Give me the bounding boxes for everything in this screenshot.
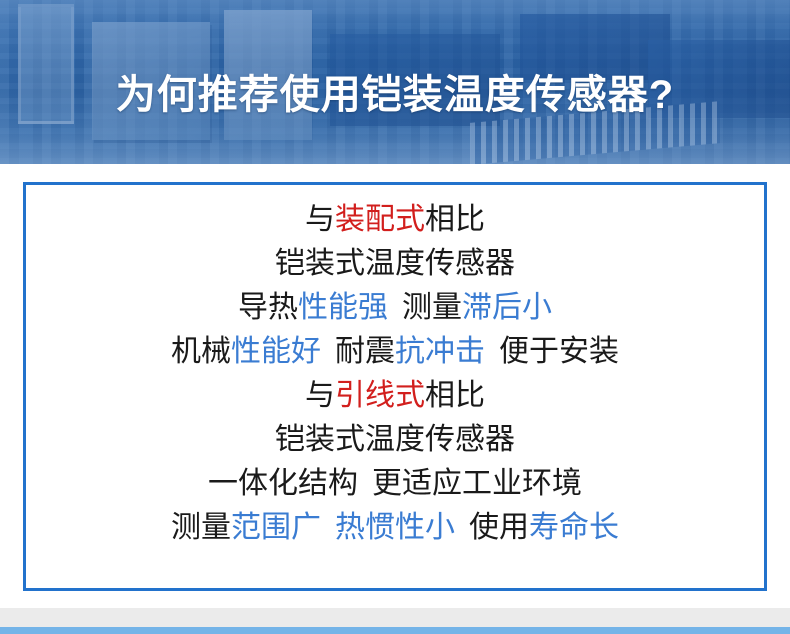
feature-text-segment: 测量 xyxy=(402,291,462,324)
feature-line: 一体化结构更适应工业环境 xyxy=(23,462,767,506)
feature-text-segment: 机械 xyxy=(171,335,231,368)
feature-line: 机械性能好耐震抗冲击便于安装 xyxy=(23,330,767,374)
feature-line: 与引线式相比 xyxy=(23,374,767,418)
feature-text-segment: 性能强 xyxy=(298,291,388,324)
feature-text-segment: 导热 xyxy=(238,291,298,324)
feature-text-segment: 相比 xyxy=(425,379,485,412)
page-title: 为何推荐使用铠装温度传感器? xyxy=(0,70,790,120)
feature-text-segment: 一体化结构 xyxy=(208,467,358,500)
feature-line: 铠装式温度传感器 xyxy=(23,242,767,286)
feature-text-segment: 与 xyxy=(305,379,335,412)
feature-text-segment: 滞后小 xyxy=(462,291,552,324)
feature-line: 测量范围广热惯性小使用寿命长 xyxy=(23,506,767,550)
feature-text-block: 与装配式相比铠装式温度传感器导热性能强测量滞后小机械性能好耐震抗冲击便于安装与引… xyxy=(23,198,767,550)
footer-blue-band xyxy=(0,627,790,634)
feature-text-segment: 范围广 xyxy=(231,511,321,544)
feature-text-segment: 装配式 xyxy=(335,203,425,236)
feature-text-segment: 性能好 xyxy=(231,335,321,368)
footer-gray-band xyxy=(0,608,790,627)
feature-line: 铠装式温度传感器 xyxy=(23,418,767,462)
feature-text-segment: 更适应工业环境 xyxy=(372,467,582,500)
feature-text-segment: 使用 xyxy=(469,511,529,544)
feature-text-segment: 热惯性小 xyxy=(335,511,455,544)
feature-text-segment: 铠装式温度传感器 xyxy=(275,423,515,456)
header-banner: 为何推荐使用铠装温度传感器? xyxy=(0,0,790,164)
feature-line: 导热性能强测量滞后小 xyxy=(23,286,767,330)
feature-text-segment: 抗冲击 xyxy=(395,335,485,368)
feature-text-segment: 与 xyxy=(305,203,335,236)
feature-text-segment: 铠装式温度传感器 xyxy=(275,247,515,280)
feature-text-segment: 便于安装 xyxy=(499,335,619,368)
feature-text-segment: 相比 xyxy=(425,203,485,236)
feature-text-segment: 寿命长 xyxy=(529,511,619,544)
feature-text-segment: 测量 xyxy=(171,511,231,544)
feature-text-segment: 耐震 xyxy=(335,335,395,368)
feature-line: 与装配式相比 xyxy=(23,198,767,242)
feature-text-segment: 引线式 xyxy=(335,379,425,412)
product-detail-page: 为何推荐使用铠装温度传感器? 与装配式相比铠装式温度传感器导热性能强测量滞后小机… xyxy=(0,0,790,634)
